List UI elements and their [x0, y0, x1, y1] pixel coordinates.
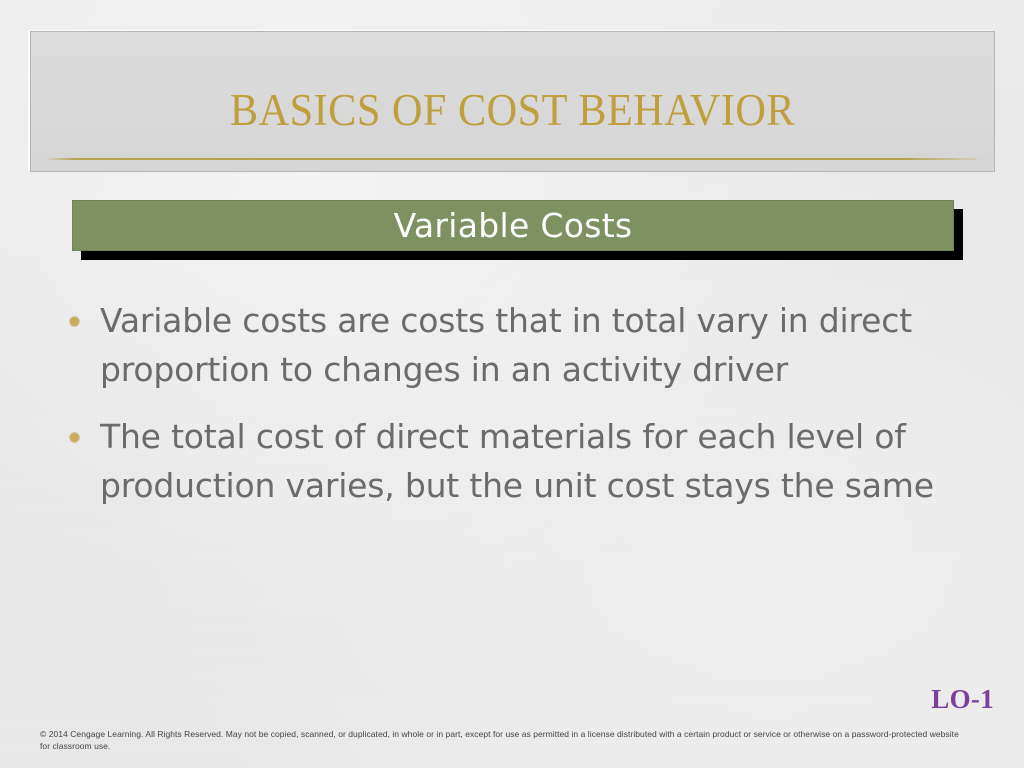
bullet-text: The total cost of direct materials for e…	[100, 417, 934, 505]
list-item: The total cost of direct materials for e…	[62, 412, 962, 510]
title-panel: Basics of Cost Behavior	[30, 31, 995, 172]
section-banner: Variable Costs	[72, 200, 954, 251]
section-banner-label: Variable Costs	[394, 209, 633, 242]
bullet-list: Variable costs are costs that in total v…	[62, 296, 962, 510]
bullet-dot-icon	[70, 317, 79, 326]
slide-canvas: Basics of Cost Behavior Variable Costs V…	[0, 0, 1024, 768]
bullet-text: Variable costs are costs that in total v…	[100, 301, 912, 389]
list-item: Variable costs are costs that in total v…	[62, 296, 962, 394]
page-title: Basics of Cost Behavior	[60, 88, 965, 133]
learning-objective-badge: LO-1	[931, 686, 994, 713]
title-divider-rule	[47, 158, 977, 160]
copyright-notice: © 2014 Cengage Learning. All Rights Rese…	[40, 729, 970, 752]
bullet-dot-icon	[70, 433, 79, 442]
section-banner-box: Variable Costs	[72, 200, 954, 251]
